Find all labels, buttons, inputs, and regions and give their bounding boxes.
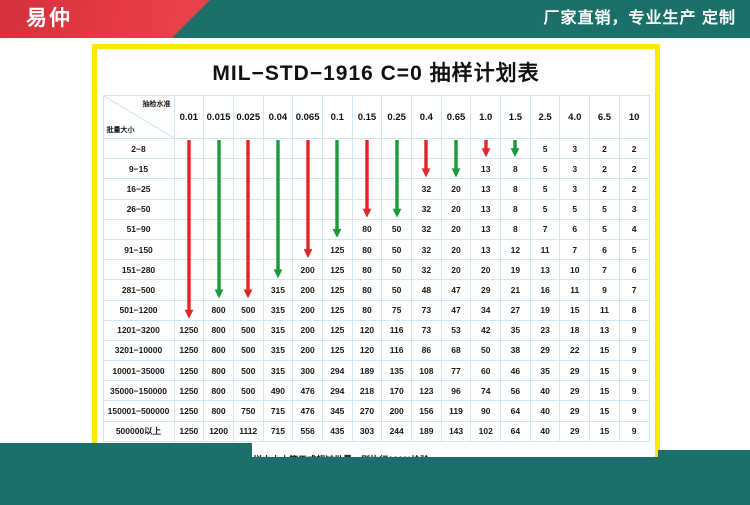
cell-r8-c5: 125 (322, 300, 352, 320)
cell-r1-c15: 2 (619, 159, 649, 179)
cell-r12-c3: 490 (263, 381, 293, 401)
cell-r2-c0 (174, 179, 204, 199)
table-row: 2−85322 (103, 139, 649, 159)
column-header-1: 0.015 (204, 96, 234, 139)
cell-r5-c8: 32 (412, 239, 442, 259)
cell-r8-c6: 80 (352, 300, 382, 320)
cell-r11-c1: 800 (204, 361, 234, 381)
bottom-bar (0, 457, 750, 505)
cell-r13-c9: 119 (441, 401, 471, 421)
cell-r0-c0 (174, 139, 204, 159)
row-header-12: 35000−150000 (103, 381, 174, 401)
column-header-7: 0.25 (382, 96, 412, 139)
table-row: 9−151385322 (103, 159, 649, 179)
cell-r11-c12: 35 (530, 361, 560, 381)
cell-r8-c8: 73 (412, 300, 442, 320)
cell-r2-c8: 32 (412, 179, 442, 199)
cell-r11-c9: 77 (441, 361, 471, 381)
column-header-9: 0.65 (441, 96, 471, 139)
cell-r10-c7: 116 (382, 340, 412, 360)
cell-r8-c10: 34 (471, 300, 501, 320)
cell-r6-c0 (174, 260, 204, 280)
cell-r0-c6 (352, 139, 382, 159)
table-row: 35000−1500001250800500490476294218170123… (103, 381, 649, 401)
cell-r1-c11: 8 (501, 159, 531, 179)
cell-r3-c13: 5 (560, 199, 590, 219)
cell-r11-c4: 300 (293, 361, 323, 381)
cell-r4-c5 (322, 219, 352, 239)
column-header-11: 1.5 (501, 96, 531, 139)
cell-r3-c0 (174, 199, 204, 219)
cell-r13-c13: 29 (560, 401, 590, 421)
cell-r2-c4 (293, 179, 323, 199)
row-header-1: 9−15 (103, 159, 174, 179)
cell-r11-c10: 60 (471, 361, 501, 381)
cell-r14-c12: 40 (530, 421, 560, 441)
cell-r12-c4: 476 (293, 381, 323, 401)
cell-r6-c15: 6 (619, 260, 649, 280)
column-header-2: 0.025 (233, 96, 263, 139)
cell-r9-c10: 42 (471, 320, 501, 340)
cell-r6-c8: 32 (412, 260, 442, 280)
cell-r0-c2 (233, 139, 263, 159)
cell-r2-c11: 8 (501, 179, 531, 199)
cell-r3-c1 (204, 199, 234, 219)
cell-r2-c13: 3 (560, 179, 590, 199)
cell-r8-c15: 8 (619, 300, 649, 320)
cell-r12-c0: 1250 (174, 381, 204, 401)
cell-r9-c11: 35 (501, 320, 531, 340)
cell-r14-c14: 15 (590, 421, 620, 441)
cell-r11-c6: 189 (352, 361, 382, 381)
cell-r3-c4 (293, 199, 323, 219)
cell-r5-c13: 7 (560, 239, 590, 259)
cell-r9-c5: 125 (322, 320, 352, 340)
cell-r1-c14: 2 (590, 159, 620, 179)
poster-card: MIL−STD−1916 C=0 抽样计划表 抽检水准 批量大小 0.010.0… (92, 44, 660, 486)
cell-r7-c14: 9 (590, 280, 620, 300)
cell-r2-c14: 2 (590, 179, 620, 199)
top-banner: 易仲 厂家直销，专业生产 定制 (0, 0, 750, 38)
column-header-15: 10 (619, 96, 649, 139)
cell-r13-c15: 9 (619, 401, 649, 421)
cell-r12-c7: 170 (382, 381, 412, 401)
cell-r7-c8: 48 (412, 280, 442, 300)
cell-r3-c5 (322, 199, 352, 219)
table-row: 91−15012580503220131211765 (103, 239, 649, 259)
cell-r12-c12: 40 (530, 381, 560, 401)
cell-r9-c4: 200 (293, 320, 323, 340)
cell-r10-c5: 125 (322, 340, 352, 360)
cell-r0-c14: 2 (590, 139, 620, 159)
cell-r0-c11 (501, 139, 531, 159)
cell-r11-c8: 108 (412, 361, 442, 381)
cell-r10-c0: 1250 (174, 340, 204, 360)
cell-r13-c7: 200 (382, 401, 412, 421)
cell-r0-c5 (322, 139, 352, 159)
cell-r8-c4: 200 (293, 300, 323, 320)
cell-r1-c13: 3 (560, 159, 590, 179)
column-header-12: 2.5 (530, 96, 560, 139)
cell-r7-c4: 200 (293, 280, 323, 300)
cell-r11-c15: 9 (619, 361, 649, 381)
cell-r9-c6: 120 (352, 320, 382, 340)
cell-r6-c12: 13 (530, 260, 560, 280)
cell-r8-c2: 500 (233, 300, 263, 320)
row-header-5: 91−150 (103, 239, 174, 259)
row-header-9: 1201−3200 (103, 320, 174, 340)
cell-r12-c10: 74 (471, 381, 501, 401)
row-header-6: 151−280 (103, 260, 174, 280)
cell-r6-c11: 19 (501, 260, 531, 280)
cell-r13-c3: 715 (263, 401, 293, 421)
page-title: MIL−STD−1916 C=0 抽样计划表 (100, 52, 652, 95)
cell-r13-c12: 40 (530, 401, 560, 421)
sampling-plan-table: 抽检水准 批量大小 0.010.0150.0250.040.0650.10.15… (103, 95, 650, 442)
cell-r14-c15: 9 (619, 421, 649, 441)
cell-r9-c0: 1250 (174, 320, 204, 340)
cell-r13-c1: 800 (204, 401, 234, 421)
cell-r6-c2 (233, 260, 263, 280)
cell-r4-c13: 6 (560, 219, 590, 239)
cell-r14-c0: 1250 (174, 421, 204, 441)
cell-r7-c13: 11 (560, 280, 590, 300)
cell-r9-c15: 9 (619, 320, 649, 340)
cell-r3-c15: 3 (619, 199, 649, 219)
cell-r14-c6: 303 (352, 421, 382, 441)
row-header-0: 2−8 (103, 139, 174, 159)
table-body: 2−853229−15138532216−253220138532226−503… (103, 139, 649, 442)
table-header-row: 抽检水准 批量大小 0.010.0150.0250.040.0650.10.15… (103, 96, 649, 139)
cell-r13-c0: 1250 (174, 401, 204, 421)
table-row: 150001−500000125080075071547634527020015… (103, 401, 649, 421)
cell-r6-c3 (263, 260, 293, 280)
cell-r10-c11: 38 (501, 340, 531, 360)
cell-r13-c11: 64 (501, 401, 531, 421)
cell-r7-c2 (233, 280, 263, 300)
table-row: 51−90805032201387654 (103, 219, 649, 239)
cell-r9-c9: 53 (441, 320, 471, 340)
cell-r3-c3 (263, 199, 293, 219)
cell-r4-c12: 7 (530, 219, 560, 239)
row-header-2: 16−25 (103, 179, 174, 199)
cell-r2-c12: 5 (530, 179, 560, 199)
cell-r6-c4: 200 (293, 260, 323, 280)
column-header-13: 4.0 (560, 96, 590, 139)
cell-r8-c0 (174, 300, 204, 320)
cell-r13-c5: 345 (322, 401, 352, 421)
cell-r9-c3: 315 (263, 320, 293, 340)
table-row: 3201−10000125080050031520012512011686685… (103, 340, 649, 360)
cell-r6-c10: 20 (471, 260, 501, 280)
column-header-4: 0.065 (293, 96, 323, 139)
cell-r11-c13: 29 (560, 361, 590, 381)
cell-r0-c1 (204, 139, 234, 159)
cell-r9-c7: 116 (382, 320, 412, 340)
cell-r0-c9 (441, 139, 471, 159)
cell-r10-c14: 15 (590, 340, 620, 360)
cell-r10-c12: 29 (530, 340, 560, 360)
cell-r4-c4 (293, 219, 323, 239)
cell-r12-c9: 96 (441, 381, 471, 401)
cell-r0-c10 (471, 139, 501, 159)
row-header-13: 150001−500000 (103, 401, 174, 421)
cell-r13-c14: 15 (590, 401, 620, 421)
cell-r14-c2: 1112 (233, 421, 263, 441)
cell-r5-c10: 13 (471, 239, 501, 259)
cell-r7-c0 (174, 280, 204, 300)
cell-r0-c7 (382, 139, 412, 159)
cell-r2-c2 (233, 179, 263, 199)
cell-r7-c15: 7 (619, 280, 649, 300)
cell-r10-c6: 120 (352, 340, 382, 360)
cell-r8-c11: 27 (501, 300, 531, 320)
cell-r14-c9: 143 (441, 421, 471, 441)
cell-r5-c15: 5 (619, 239, 649, 259)
cell-r1-c10: 13 (471, 159, 501, 179)
cell-r11-c14: 15 (590, 361, 620, 381)
cell-r14-c3: 715 (263, 421, 293, 441)
cell-r7-c6: 80 (352, 280, 382, 300)
cell-r4-c14: 5 (590, 219, 620, 239)
cell-r3-c7 (382, 199, 412, 219)
cell-r10-c15: 9 (619, 340, 649, 360)
column-header-3: 0.04 (263, 96, 293, 139)
cell-r2-c9: 20 (441, 179, 471, 199)
cell-r14-c5: 435 (322, 421, 352, 441)
cell-r1-c0 (174, 159, 204, 179)
column-header-10: 1.0 (471, 96, 501, 139)
cell-r12-c6: 218 (352, 381, 382, 401)
cell-r2-c7 (382, 179, 412, 199)
cell-r6-c5: 125 (322, 260, 352, 280)
cell-r14-c8: 189 (412, 421, 442, 441)
cell-r5-c5: 125 (322, 239, 352, 259)
cell-r10-c9: 68 (441, 340, 471, 360)
cell-r11-c2: 500 (233, 361, 263, 381)
table-row: 1201−32001250800500315200125120116735342… (103, 320, 649, 340)
cell-r2-c1 (204, 179, 234, 199)
table-row: 501−120080050031520012580757347342719151… (103, 300, 649, 320)
cell-r12-c5: 294 (322, 381, 352, 401)
cell-r12-c15: 9 (619, 381, 649, 401)
row-header-3: 26−50 (103, 199, 174, 219)
cell-r6-c1 (204, 260, 234, 280)
cell-r6-c6: 80 (352, 260, 382, 280)
cell-r9-c8: 73 (412, 320, 442, 340)
cell-r6-c14: 7 (590, 260, 620, 280)
table-row: 26−5032201385553 (103, 199, 649, 219)
row-header-11: 10001−35000 (103, 361, 174, 381)
table-head: 抽检水准 批量大小 0.010.0150.0250.040.0650.10.15… (103, 96, 649, 139)
cell-r5-c0 (174, 239, 204, 259)
cell-r3-c9: 20 (441, 199, 471, 219)
cell-r6-c9: 20 (441, 260, 471, 280)
cell-r7-c3: 315 (263, 280, 293, 300)
table-row: 16−2532201385322 (103, 179, 649, 199)
cell-r0-c3 (263, 139, 293, 159)
row-header-4: 51−90 (103, 219, 174, 239)
cell-r10-c4: 200 (293, 340, 323, 360)
cell-r3-c14: 5 (590, 199, 620, 219)
cell-r3-c6 (352, 199, 382, 219)
cell-r13-c2: 750 (233, 401, 263, 421)
poster-card-inner: MIL−STD−1916 C=0 抽样计划表 抽检水准 批量大小 0.010.0… (100, 52, 652, 478)
cell-r3-c8: 32 (412, 199, 442, 219)
cell-r1-c12: 5 (530, 159, 560, 179)
cell-r9-c1: 800 (204, 320, 234, 340)
cell-r12-c2: 500 (233, 381, 263, 401)
cell-r1-c8 (412, 159, 442, 179)
cell-r13-c8: 156 (412, 401, 442, 421)
cell-r0-c12: 5 (530, 139, 560, 159)
cell-r14-c1: 1200 (204, 421, 234, 441)
cell-r2-c5 (322, 179, 352, 199)
cell-r7-c5: 125 (322, 280, 352, 300)
cell-r11-c5: 294 (322, 361, 352, 381)
cell-r5-c14: 6 (590, 239, 620, 259)
cell-r7-c9: 47 (441, 280, 471, 300)
cell-r8-c7: 75 (382, 300, 412, 320)
cell-r9-c2: 500 (233, 320, 263, 340)
cell-r3-c2 (233, 199, 263, 219)
cell-r10-c8: 86 (412, 340, 442, 360)
cell-r5-c7: 50 (382, 239, 412, 259)
cell-r5-c11: 12 (501, 239, 531, 259)
cell-r5-c3 (263, 239, 293, 259)
cell-r7-c10: 29 (471, 280, 501, 300)
cell-r8-c12: 19 (530, 300, 560, 320)
cell-r2-c10: 13 (471, 179, 501, 199)
bottom-notch-left (0, 443, 252, 457)
cell-r12-c8: 123 (412, 381, 442, 401)
brand-name: 易仲 (26, 4, 72, 34)
cell-r11-c0: 1250 (174, 361, 204, 381)
banner-slogan: 厂家直销，专业生产 定制 (544, 7, 736, 31)
cell-r14-c10: 102 (471, 421, 501, 441)
cell-r13-c4: 476 (293, 401, 323, 421)
cell-r4-c2 (233, 219, 263, 239)
cell-r2-c6 (352, 179, 382, 199)
corner-top-label: 抽检水准 (143, 99, 171, 109)
cell-r14-c11: 64 (501, 421, 531, 441)
cell-r1-c4 (293, 159, 323, 179)
cell-r12-c13: 29 (560, 381, 590, 401)
row-header-8: 501−1200 (103, 300, 174, 320)
row-header-7: 281−500 (103, 280, 174, 300)
cell-r11-c11: 46 (501, 361, 531, 381)
cell-r2-c15: 2 (619, 179, 649, 199)
cell-r1-c6 (352, 159, 382, 179)
cell-r3-c12: 5 (530, 199, 560, 219)
table-row: 10001−3500012508005003153002941891351087… (103, 361, 649, 381)
cell-r8-c14: 11 (590, 300, 620, 320)
cell-r11-c3: 315 (263, 361, 293, 381)
cell-r1-c1 (204, 159, 234, 179)
cell-r8-c13: 15 (560, 300, 590, 320)
cell-r0-c4 (293, 139, 323, 159)
cell-r0-c15: 2 (619, 139, 649, 159)
cell-r3-c10: 13 (471, 199, 501, 219)
cell-r6-c7: 50 (382, 260, 412, 280)
cell-r5-c6: 80 (352, 239, 382, 259)
table-row: 281−500315200125805048472921161197 (103, 280, 649, 300)
cell-r10-c1: 800 (204, 340, 234, 360)
column-header-0: 0.01 (174, 96, 204, 139)
cell-r9-c14: 13 (590, 320, 620, 340)
cell-r14-c13: 29 (560, 421, 590, 441)
cell-r12-c11: 56 (501, 381, 531, 401)
cell-r6-c13: 10 (560, 260, 590, 280)
corner-bottom-label: 批量大小 (107, 125, 135, 135)
cell-r4-c9: 20 (441, 219, 471, 239)
cell-r13-c6: 270 (352, 401, 382, 421)
column-header-8: 0.4 (412, 96, 442, 139)
cell-r0-c8 (412, 139, 442, 159)
cell-r10-c3: 315 (263, 340, 293, 360)
cell-r7-c12: 16 (530, 280, 560, 300)
cell-r7-c1 (204, 280, 234, 300)
cell-r10-c2: 500 (233, 340, 263, 360)
cell-r9-c13: 18 (560, 320, 590, 340)
cell-r12-c14: 15 (590, 381, 620, 401)
table-corner-cell: 抽检水准 批量大小 (103, 96, 174, 139)
cell-r4-c7: 50 (382, 219, 412, 239)
column-header-6: 0.15 (352, 96, 382, 139)
cell-r12-c1: 800 (204, 381, 234, 401)
cell-r8-c3: 315 (263, 300, 293, 320)
cell-r1-c2 (233, 159, 263, 179)
cell-r3-c11: 8 (501, 199, 531, 219)
column-header-5: 0.1 (322, 96, 352, 139)
cell-r2-c3 (263, 179, 293, 199)
cell-r1-c7 (382, 159, 412, 179)
cell-r5-c9: 20 (441, 239, 471, 259)
cell-r5-c2 (233, 239, 263, 259)
cell-r0-c13: 3 (560, 139, 590, 159)
table-row: 151−280200125805032202019131076 (103, 260, 649, 280)
bottom-notch-right (658, 450, 750, 457)
cell-r11-c7: 135 (382, 361, 412, 381)
cell-r1-c9 (441, 159, 471, 179)
cell-r4-c10: 13 (471, 219, 501, 239)
cell-r7-c11: 21 (501, 280, 531, 300)
cell-r5-c12: 11 (530, 239, 560, 259)
cell-r13-c10: 90 (471, 401, 501, 421)
cell-r14-c7: 244 (382, 421, 412, 441)
cell-r8-c1: 800 (204, 300, 234, 320)
cell-r14-c4: 556 (293, 421, 323, 441)
cell-r4-c3 (263, 219, 293, 239)
row-header-10: 3201−10000 (103, 340, 174, 360)
cell-r4-c1 (204, 219, 234, 239)
cell-r1-c5 (322, 159, 352, 179)
cell-r8-c9: 47 (441, 300, 471, 320)
cell-r4-c0 (174, 219, 204, 239)
cell-r5-c1 (204, 239, 234, 259)
cell-r10-c10: 50 (471, 340, 501, 360)
cell-r7-c7: 50 (382, 280, 412, 300)
cell-r9-c12: 23 (530, 320, 560, 340)
table-row: 500000以上12501200111271555643530324418914… (103, 421, 649, 441)
row-header-14: 500000以上 (103, 421, 174, 441)
cell-r5-c4 (293, 239, 323, 259)
cell-r4-c8: 32 (412, 219, 442, 239)
cell-r4-c6: 80 (352, 219, 382, 239)
cell-r4-c15: 4 (619, 219, 649, 239)
cell-r10-c13: 22 (560, 340, 590, 360)
cell-r4-c11: 8 (501, 219, 531, 239)
